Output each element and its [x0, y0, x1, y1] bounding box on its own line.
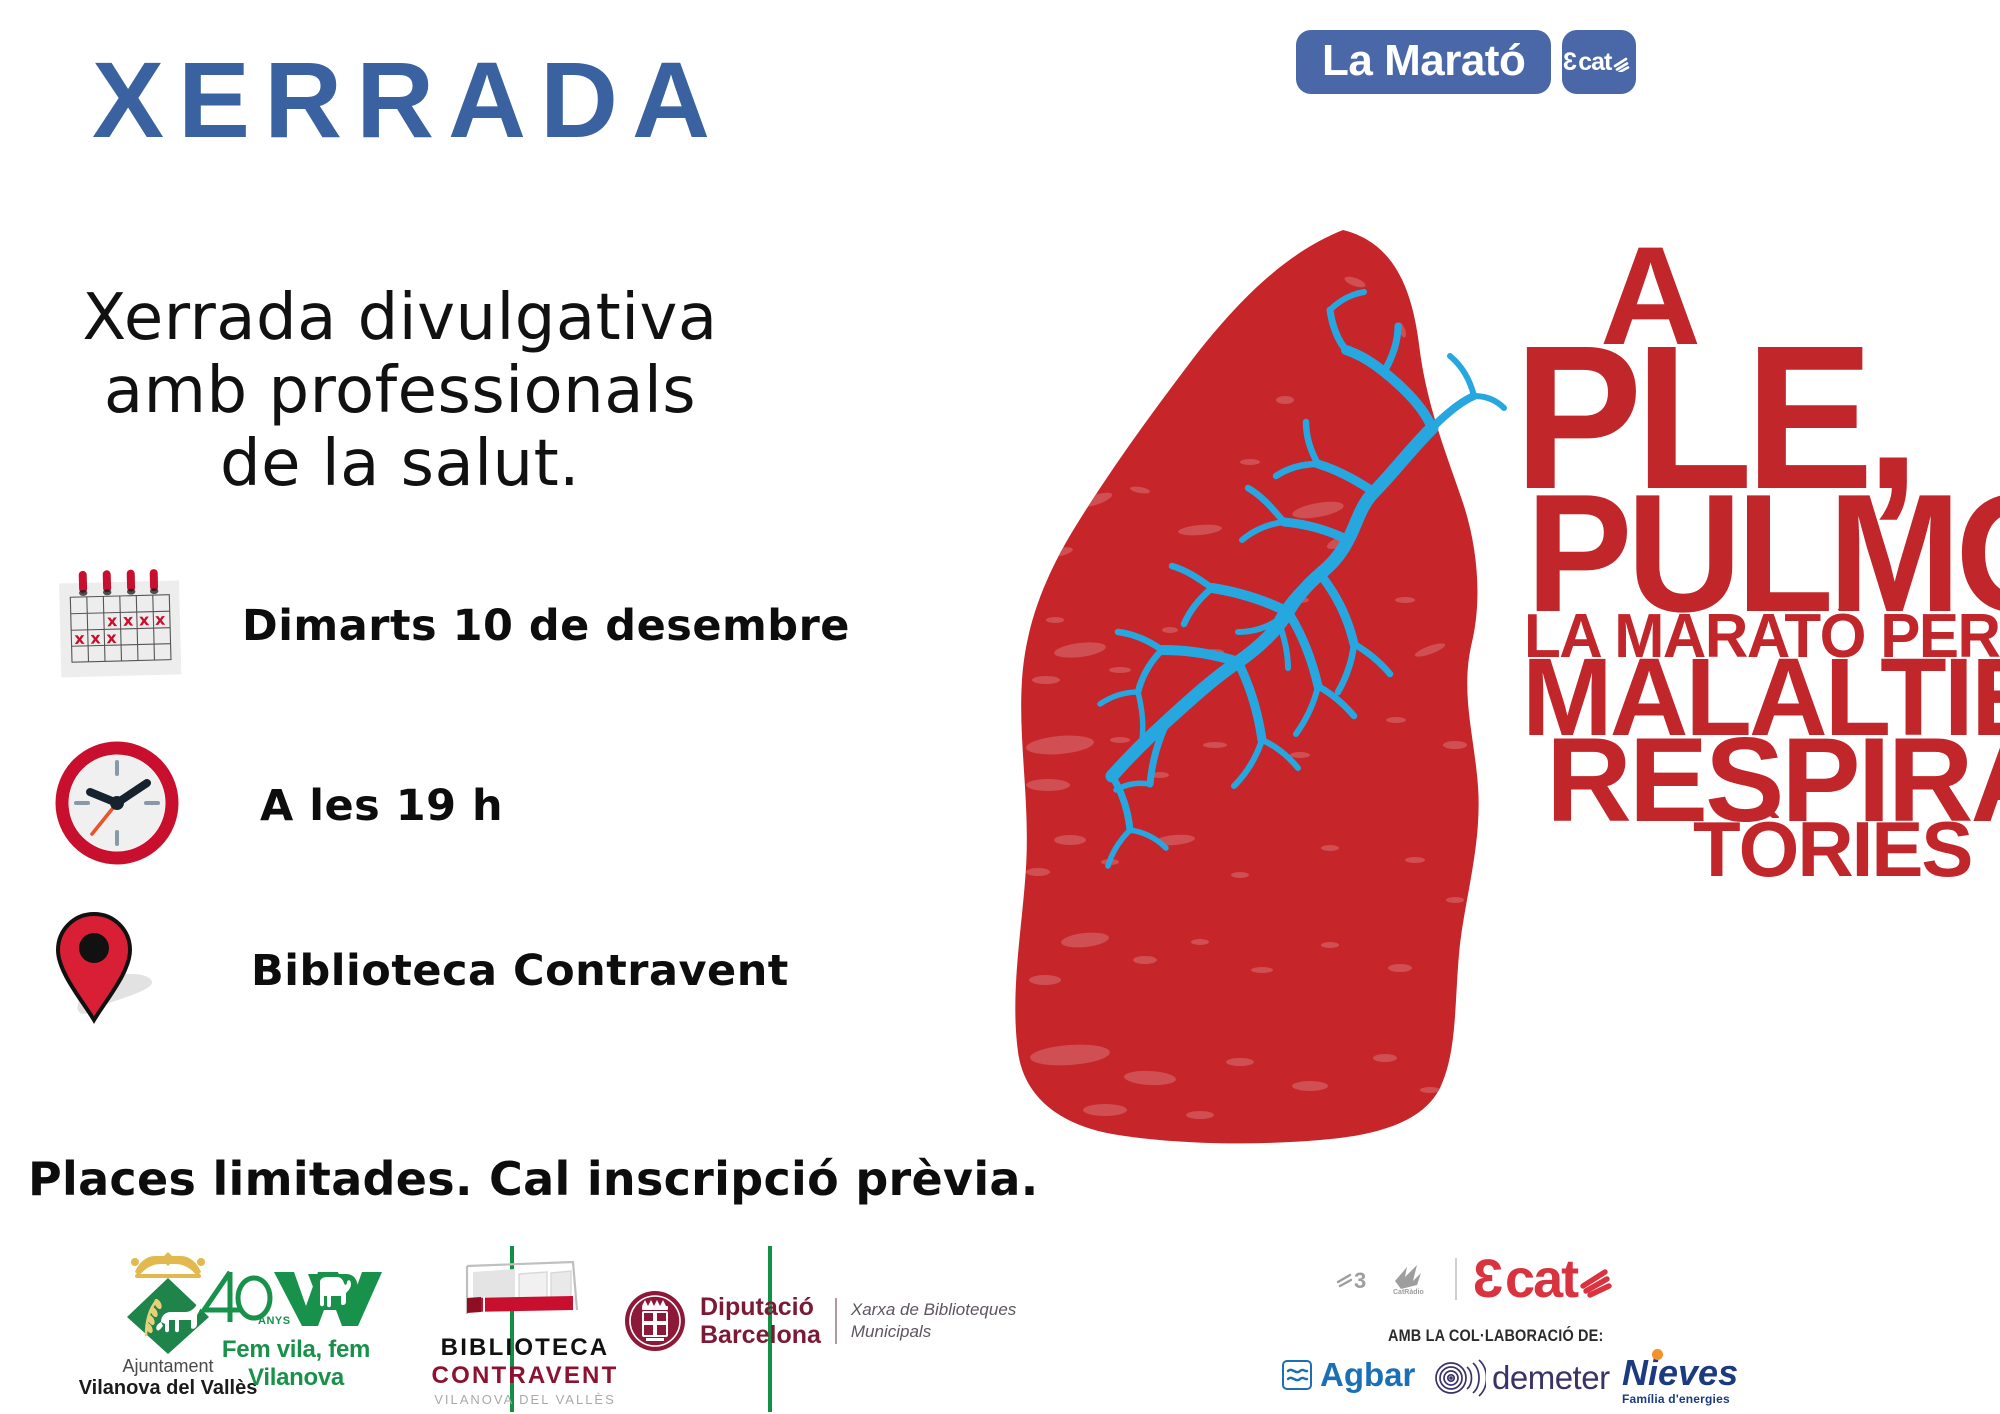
campaign-slogan: A PLE, PULMÓ LA MARATÓ PER LES MALALTIES…	[1518, 240, 1988, 880]
sponsor-demeter: demeter	[1434, 1358, 1610, 1398]
broadcaster-divider	[1455, 1258, 1457, 1300]
lung-illustration	[1000, 200, 1540, 1160]
bookshelf-icon	[455, 1258, 595, 1330]
3cat-three-glyph: 3	[1563, 50, 1577, 75]
subtitle-line-1: Xerrada divulgativa	[80, 282, 720, 355]
xarxa-biblioteques-label: Xarxa de Biblioteques Municipals	[851, 1299, 1016, 1343]
vdv-40anys-icon: ANYS	[196, 1268, 396, 1334]
slogan-line-pulmo: PULMÓ	[1526, 486, 1965, 620]
vdv-tagline: Fem vila, fem Vilanova	[196, 1336, 396, 1392]
diputacio-crest-icon	[624, 1290, 686, 1352]
detail-time-label: A les 19 h	[260, 781, 503, 831]
agbar-label: Agbar	[1320, 1356, 1415, 1394]
sponsor-agbar: Agbar	[1282, 1356, 1415, 1394]
tv3-icon: 3	[1336, 1264, 1378, 1294]
collaboration-label: AMB LA COL·LABORACIÓ DE:	[1388, 1326, 1603, 1346]
calendar-icon: xx xx xxx	[52, 566, 187, 686]
svg-text:x: x	[139, 610, 150, 629]
logo-vdv-40anys: ANYS Fem vila, fem Vilanova	[196, 1268, 396, 1392]
diputacio-divider	[835, 1298, 837, 1344]
detail-date-label: Dimarts 10 de desembre	[242, 601, 850, 651]
marato-pill: La Marató	[1296, 30, 1551, 94]
logo-diputacio-barcelona: Diputació Barcelona Xarxa de Biblioteque…	[624, 1290, 1016, 1352]
sponsor-nieves: Nieves Família d'energies	[1622, 1352, 1738, 1406]
subtitle-line-3: de la salut.	[80, 428, 720, 501]
svg-text:CatRàdio: CatRàdio	[1393, 1289, 1424, 1295]
clock-icon	[52, 738, 182, 873]
svg-text:3: 3	[1354, 1268, 1366, 1293]
slogan-line-respira: RESPIRA	[1546, 732, 1984, 828]
3cat-cat-glyph: cat	[1578, 50, 1611, 75]
subtitle-block: Xerrada divulgativa amb professionals de…	[80, 282, 720, 501]
nieves-tagline: Família d'energies	[1622, 1392, 1738, 1406]
biblioteca-line3: VILANOVA DEL VALLÈS	[430, 1392, 620, 1407]
detail-row-place: Biblioteca Contravent	[52, 908, 789, 1033]
marato-3cat-logo: La Marató 3 cat	[1296, 30, 1636, 94]
diputacio-wordmark: Diputació Barcelona	[700, 1293, 821, 1349]
biblioteca-line2: CONTRAVENT	[430, 1362, 620, 1390]
diputacio-line1: Diputació	[700, 1293, 821, 1321]
registration-note: Places limitades. Cal inscripció prèvia.	[28, 1152, 1039, 1206]
3cat-red-wordmark: 3 cat	[1473, 1252, 1621, 1306]
catradio-icon: CatRàdio	[1387, 1263, 1439, 1295]
3cat-badge: 3 cat	[1562, 30, 1636, 94]
vdv-anys-label: ANYS	[258, 1315, 291, 1327]
svg-text:x: x	[123, 611, 134, 630]
biblioteca-line1: BIBLIOTECA	[430, 1334, 620, 1362]
wifi-swoosh-icon	[1613, 52, 1635, 72]
nieves-dot-icon	[1652, 1349, 1663, 1360]
detail-place-label: Biblioteca Contravent	[251, 946, 789, 996]
nieves-wordmark: Nieves	[1622, 1352, 1738, 1393]
detail-row-time: A les 19 h	[52, 738, 503, 873]
svg-text:x: x	[90, 628, 101, 647]
detail-row-date: xx xx xxx Dimarts 10 de desemb	[52, 566, 850, 686]
svg-text:x: x	[74, 629, 85, 648]
3cat-red-three-glyph: 3	[1473, 1252, 1503, 1306]
logo-biblioteca-contravent: BIBLIOTECA CONTRAVENT VILANOVA DEL VALLÈ…	[430, 1258, 620, 1407]
agbar-waves-icon	[1282, 1360, 1312, 1390]
tv3-catradio-marks: 3 CatRàdio	[1336, 1263, 1439, 1295]
logo-3cat-broadcaster: 3 CatRàdio 3 cat	[1336, 1252, 1621, 1306]
subtitle-line-2: amb professionals	[80, 355, 720, 428]
svg-text:x: x	[106, 628, 117, 647]
nieves-label: Nieves	[1622, 1352, 1738, 1394]
svg-text:x: x	[155, 610, 166, 629]
demeter-label: demeter	[1492, 1359, 1610, 1397]
3cat-red-cat-glyph: cat	[1505, 1252, 1577, 1306]
xarxa-line2: Municipals	[851, 1321, 1016, 1343]
diputacio-line2: Barcelona	[700, 1321, 821, 1349]
xarxa-line1: Xarxa de Biblioteques	[851, 1299, 1016, 1321]
marato-label: La Marató	[1322, 39, 1525, 83]
map-pin-icon	[52, 908, 187, 1033]
demeter-rings-icon	[1434, 1358, 1486, 1398]
wifi-swoosh-icon	[1579, 1260, 1621, 1298]
page-title: XERRADA	[92, 46, 724, 154]
